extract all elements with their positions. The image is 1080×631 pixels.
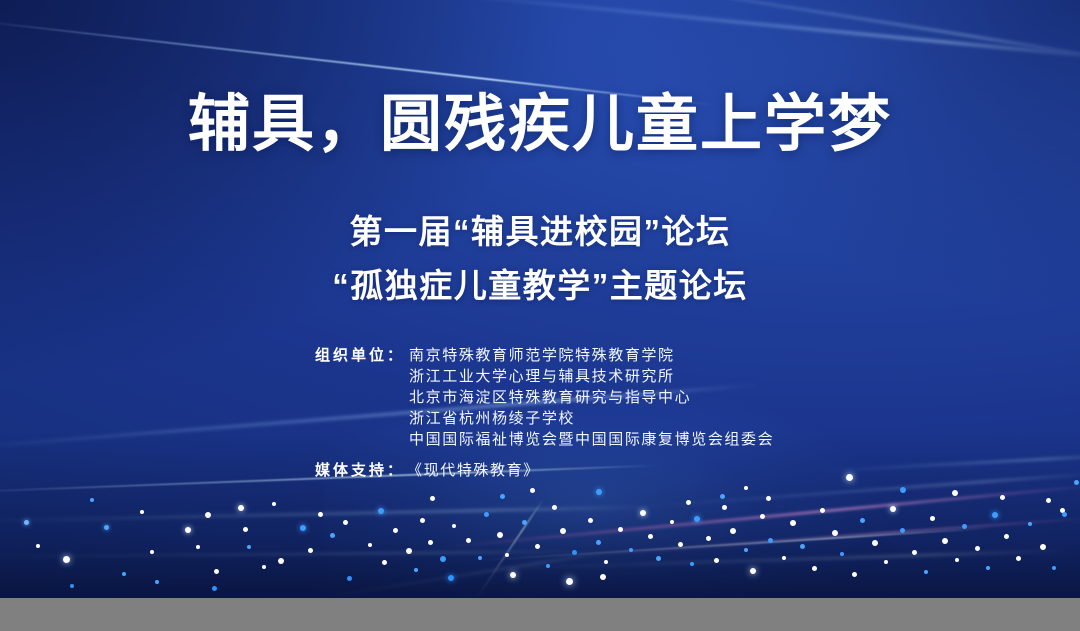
organizers-list: 南京特殊教育师范学院特殊教育学院 浙江工业大学心理与辅具技术研究所 北京市海淀区… — [405, 345, 774, 450]
subtitle-group: 第一届“辅具进校园”论坛 “孤独症儿童教学”主题论坛 — [0, 205, 1080, 313]
organizer-item: 浙江工业大学心理与辅具技术研究所 — [409, 366, 774, 387]
media-support-label: 媒体支持： — [315, 459, 405, 480]
subtitle-line-1: 第一届“辅具进校园”论坛 — [0, 205, 1080, 259]
organizers-label: 组织单位： — [315, 345, 405, 366]
organizer-item: 南京特殊教育师范学院特殊教育学院 — [409, 345, 774, 366]
page-title: 辅具，圆残疾儿童上学梦 — [0, 92, 1080, 157]
organizer-item: 浙江省杭州杨绫子学校 — [409, 408, 774, 429]
media-support-value: 《现代特殊教育》 — [405, 459, 540, 480]
poster-canvas: 辅具，圆残疾儿童上学梦 第一届“辅具进校园”论坛 “孤独症儿童教学”主题论坛 组… — [0, 0, 1080, 631]
organizer-item: 中国国际福祉博览会暨中国国际康复博览会组委会 — [409, 429, 774, 450]
organizer-item: 北京市海淀区特殊教育研究与指导中心 — [409, 387, 774, 408]
subtitle-line-2: “孤独症儿童教学”主题论坛 — [0, 259, 1080, 313]
organizers-block: 组织单位： 南京特殊教育师范学院特殊教育学院 浙江工业大学心理与辅具技术研究所 … — [315, 345, 774, 450]
media-support-block: 媒体支持： 《现代特殊教育》 — [315, 459, 540, 480]
poster-content: 辅具，圆残疾儿童上学梦 第一届“辅具进校园”论坛 “孤独症儿童教学”主题论坛 组… — [0, 0, 1080, 631]
bottom-gray-bar — [0, 598, 1080, 631]
